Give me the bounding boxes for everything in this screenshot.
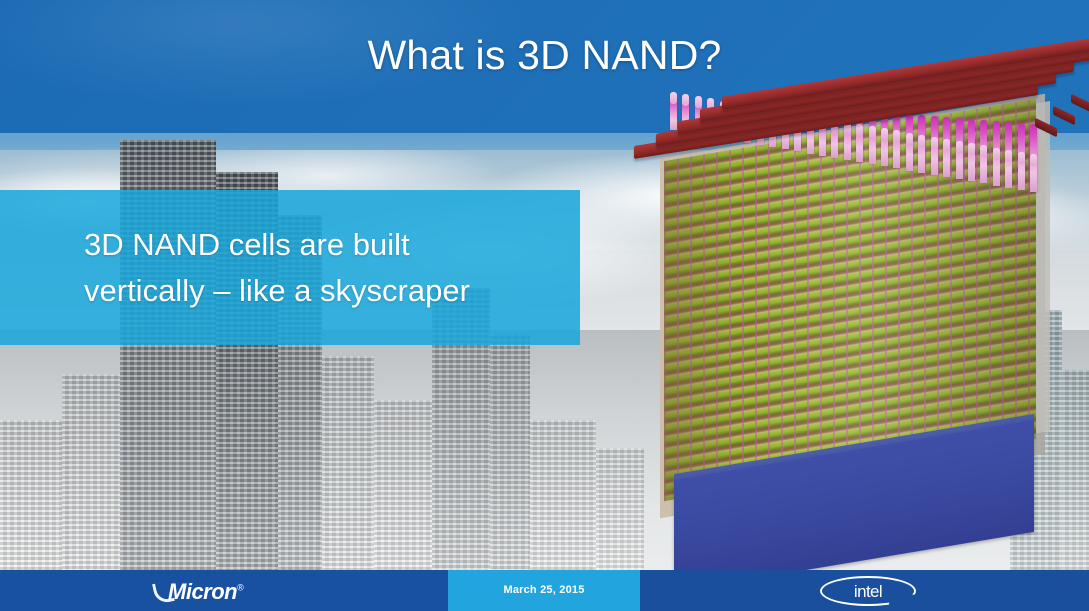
micron-logo-text: Micron: [168, 579, 237, 604]
intel-logo: intel: [820, 576, 916, 606]
slide-footer: Micron® March 25, 2015 intel: [0, 570, 1089, 611]
body-text-line-2: vertically – like a skyscraper: [84, 268, 604, 314]
body-text-line-1: 3D NAND cells are built: [84, 227, 410, 262]
building: [62, 374, 120, 570]
building: [0, 420, 70, 570]
micron-trademark: ®: [237, 583, 243, 593]
nand-bitline-end: [1053, 106, 1075, 126]
body-text: 3D NAND cells are built vertically – lik…: [84, 222, 604, 314]
micron-logo: Micron®: [168, 579, 243, 603]
presentation-slide: What is 3D NAND? 3D NAND cells are built…: [0, 0, 1089, 611]
building: [322, 356, 374, 570]
3d-nand-stack-render: [612, 52, 1089, 562]
intel-logo-text: intel: [854, 582, 882, 602]
nand-bitline-end: [1035, 118, 1057, 138]
building: [530, 420, 596, 570]
building: [374, 400, 432, 570]
footer-date: March 25, 2015: [448, 584, 640, 596]
nand-bitline-end: [1071, 94, 1089, 114]
nand-bitlines: [630, 52, 1080, 162]
building: [490, 334, 530, 570]
